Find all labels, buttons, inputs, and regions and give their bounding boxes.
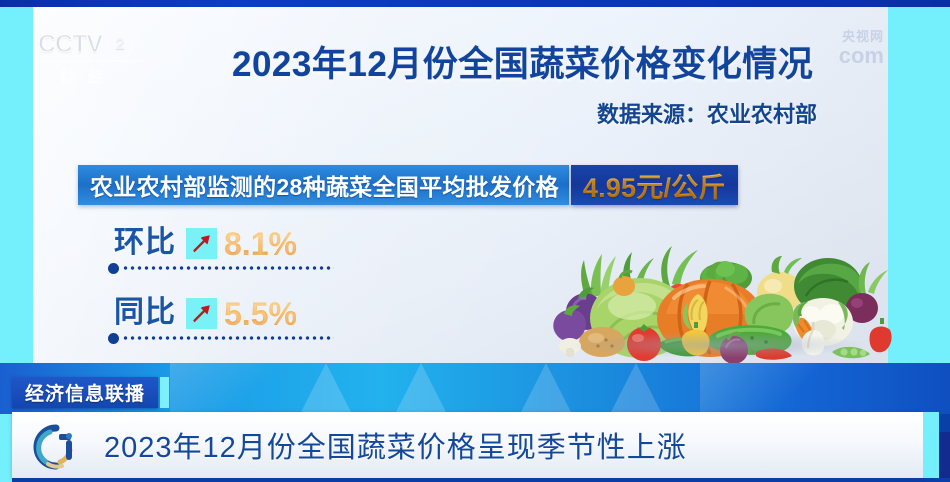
vegetables-illustration [540, 236, 892, 364]
bullet-dot-icon [108, 263, 119, 274]
stat-underline-yoy [108, 332, 334, 344]
cctv-channel-number: 2 [107, 32, 133, 58]
arrow-up-right-icon [186, 228, 217, 259]
stat-value-yoy: 5.5% [224, 298, 297, 330]
stat-label-yoy: 同比 [114, 298, 176, 330]
stat-value-mom: 8.1% [224, 228, 297, 260]
top-blue-strip [0, 0, 950, 7]
cctv-logo-text: CCTV [38, 30, 102, 59]
red-bell-pepper-icon [870, 318, 892, 352]
ticker-headline: 2023年12月份全国蔬菜价格呈现季节性上涨 [104, 424, 687, 466]
price-value-text: 4.95元/公斤 [583, 166, 726, 205]
stat-label-mom: 环比 [114, 228, 176, 260]
bottom-left-cyan-fill [0, 414, 12, 482]
program-name-text: 经济信息联播 [25, 379, 145, 406]
band-sheen [170, 363, 280, 414]
page-title: 2023年12月份全国蔬菜价格变化情况 [232, 36, 813, 87]
price-value-box: 4.95元/公斤 [571, 165, 738, 205]
stat-underline-mom [108, 262, 334, 274]
price-banner-description-text: 农业农村部监测的28种蔬菜全国平均批发价格 [90, 168, 559, 202]
broadcast-screen: CCTV 2 财经 央视网 com 2023年12月份全国蔬菜价格变化情况 数据… [0, 0, 950, 482]
dotted-line [122, 336, 334, 340]
price-banner: 农业农村部监测的28种蔬菜全国平均批发价格 4.95元/公斤 [78, 165, 738, 205]
cctv-finance-circle-logo-icon [26, 418, 84, 472]
price-banner-description: 农业农村部监测的28种蔬菜全国平均批发价格 [78, 165, 569, 205]
stat-row-yoy: 同比 5.5% [114, 298, 297, 330]
radish-greens-icon [661, 246, 698, 286]
band-triangle [300, 363, 352, 414]
stat-row-mom: 环比 8.1% [114, 228, 297, 260]
cctv-logo-underline [38, 60, 142, 62]
program-name-badge: 经济信息联播 [12, 377, 158, 408]
band-triangle [395, 363, 447, 414]
beet-greens-icon [859, 262, 888, 294]
band-triangle [610, 363, 662, 414]
ticker-right-navy-cap [939, 432, 950, 478]
program-badge-accent [160, 377, 169, 408]
arrow-up-right-icon [186, 298, 217, 329]
cctv-logo-row: CCTV 2 [38, 30, 148, 59]
band-triangle [520, 363, 572, 414]
left-cyan-band [0, 7, 33, 363]
vegetables-shadow [568, 332, 868, 358]
band-sheen [700, 363, 830, 414]
news-ticker-bar: 2023年12月份全国蔬菜价格呈现季节性上涨 [12, 412, 923, 478]
ticker-right-cyan-cap [923, 412, 939, 478]
cctv-logo-subtitle: 财经 [38, 66, 148, 87]
cctv2-logo: CCTV 2 财经 [38, 30, 148, 88]
right-cyan-band [888, 7, 950, 363]
bullet-dot-icon [108, 333, 119, 344]
data-source-label: 数据来源：农业农村部 [597, 97, 817, 129]
dotted-line [122, 266, 334, 270]
